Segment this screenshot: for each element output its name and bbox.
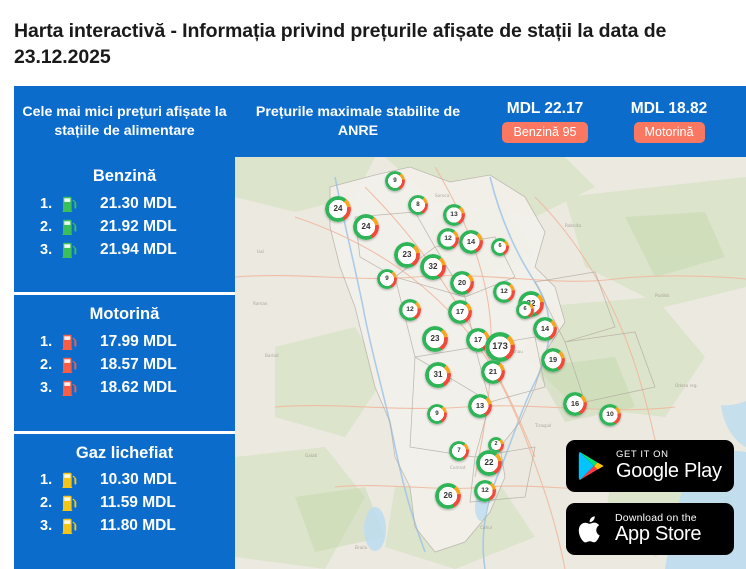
page-title: Harta interactivă - Informația privind p… bbox=[14, 18, 730, 70]
marker-count-label: 6 bbox=[523, 307, 526, 313]
price-value: 18.62 MDL bbox=[100, 379, 177, 397]
marker-count-label: 24 bbox=[334, 205, 343, 213]
price-rank-row[interactable]: 3.21.94 MDL bbox=[14, 238, 235, 261]
marker-count-label: 24 bbox=[362, 223, 371, 231]
marker-count-label: 2 bbox=[494, 442, 497, 448]
price-rank-row[interactable]: 1.17.99 MDL bbox=[14, 330, 235, 353]
price-value: 10.30 MDL bbox=[100, 471, 177, 489]
google-play-icon bbox=[578, 451, 605, 481]
app-store-text: Download on the App Store bbox=[615, 512, 701, 546]
marker-count-label: 7 bbox=[457, 448, 460, 454]
apple-logo-icon bbox=[578, 514, 604, 545]
fuel-section-1: Motorină1.17.99 MDL2.18.57 MDL3.18.62 MD… bbox=[14, 295, 235, 433]
marker-count-label: 10 bbox=[606, 412, 614, 419]
map-cluster-marker[interactable]: 6 bbox=[491, 238, 509, 256]
price-rank-row[interactable]: 2.18.57 MDL bbox=[14, 353, 235, 376]
map-cluster-marker[interactable]: 19 bbox=[541, 348, 565, 372]
max-price-gasoline-badge: Benzină 95 bbox=[502, 122, 587, 143]
google-play-badge[interactable]: GET IT ON Google Play bbox=[566, 440, 734, 492]
price-rank-row[interactable]: 1.10.30 MDL bbox=[14, 469, 235, 492]
price-rank-number: 2. bbox=[40, 357, 62, 373]
header-band: Cele mai mici prețuri afișate la stațiil… bbox=[14, 86, 746, 157]
price-rank-number: 2. bbox=[40, 495, 62, 511]
fuel-pump-icon bbox=[62, 242, 84, 258]
marker-count-label: 9 bbox=[435, 411, 438, 417]
svg-text:Braila: Braila bbox=[355, 545, 367, 550]
fuel-pump-icon bbox=[62, 357, 84, 373]
price-value: 17.99 MDL bbox=[100, 333, 177, 351]
map-cluster-marker[interactable]: 12 bbox=[399, 299, 421, 321]
max-price-gasoline-value: MDL 22.17 bbox=[489, 100, 601, 119]
marker-count-label: 8 bbox=[416, 202, 419, 208]
google-play-large-text: Google Play bbox=[616, 461, 722, 483]
cheapest-prices-sidebar: Benzină1.21.30 MDL2.21.92 MDL3.21.94 MDL… bbox=[14, 157, 235, 569]
anre-max-prices-label: Prețurile maximale stabilite de ANRE bbox=[235, 103, 481, 141]
price-rank-number: 3. bbox=[40, 518, 62, 534]
interactive-map[interactable]: Iasi Roman Barlad Soroca Rabnita Chisina… bbox=[235, 157, 746, 569]
fuel-section-2: Gaz lichefiat1.10.30 MDL2.11.59 MDL3.11.… bbox=[14, 434, 235, 569]
map-cluster-marker[interactable]: 9 bbox=[427, 404, 447, 424]
fuel-section-title: Benzină bbox=[14, 167, 235, 186]
map-cluster-marker[interactable]: 14 bbox=[533, 317, 557, 341]
map-cluster-marker[interactable]: 13 bbox=[443, 204, 465, 226]
interactive-fuel-price-map-page: Harta interactivă - Informația privind p… bbox=[0, 0, 746, 569]
map-cluster-marker[interactable]: 23 bbox=[422, 326, 448, 352]
svg-text:Tiraspol: Tiraspol bbox=[534, 423, 551, 428]
price-rank-number: 3. bbox=[40, 242, 62, 258]
marker-count-label: 13 bbox=[476, 402, 484, 409]
map-cluster-marker[interactable]: 10 bbox=[599, 404, 621, 426]
map-cluster-marker[interactable]: 7 bbox=[449, 441, 469, 461]
marker-count-label: 12 bbox=[481, 488, 489, 495]
map-cluster-marker[interactable]: 12 bbox=[493, 281, 515, 303]
price-rank-number: 1. bbox=[40, 196, 62, 212]
map-cluster-marker[interactable]: 14 bbox=[459, 230, 483, 254]
price-value: 21.92 MDL bbox=[100, 218, 177, 236]
price-value: 11.80 MDL bbox=[100, 517, 176, 535]
fuel-pump-icon bbox=[62, 380, 84, 396]
marker-count-label: 14 bbox=[541, 325, 549, 332]
marker-count-label: 22 bbox=[485, 459, 494, 467]
max-price-gasoline: MDL 22.17 Benzină 95 bbox=[481, 100, 609, 144]
svg-text:Barlad: Barlad bbox=[265, 353, 279, 358]
marker-count-label: 6 bbox=[498, 244, 501, 250]
map-cluster-marker[interactable]: 13 bbox=[468, 394, 492, 418]
marker-count-label: 12 bbox=[444, 236, 452, 243]
marker-count-label: 13 bbox=[450, 212, 458, 219]
svg-text:Podilsk: Podilsk bbox=[655, 293, 670, 298]
app-store-badge[interactable]: Download on the App Store bbox=[566, 503, 734, 555]
map-cluster-marker[interactable]: 23 bbox=[394, 242, 420, 268]
marker-count-label: 12 bbox=[500, 289, 508, 296]
price-rank-number: 2. bbox=[40, 219, 62, 235]
map-cluster-marker[interactable]: 24 bbox=[325, 196, 351, 222]
price-rank-row[interactable]: 1.21.30 MDL bbox=[14, 192, 235, 215]
marker-count-label: 9 bbox=[385, 276, 388, 282]
main-body: Benzină1.21.30 MDL2.21.92 MDL3.21.94 MDL… bbox=[14, 157, 746, 569]
map-cluster-marker[interactable]: 26 bbox=[435, 483, 461, 509]
fuel-pump-icon bbox=[62, 518, 84, 534]
marker-count-label: 31 bbox=[434, 371, 443, 379]
map-cluster-marker[interactable]: 6 bbox=[516, 301, 534, 319]
svg-text:Iasi: Iasi bbox=[257, 249, 264, 254]
marker-count-label: 17 bbox=[474, 336, 482, 343]
fuel-section-title: Gaz lichefiat bbox=[14, 444, 235, 463]
price-rank-row[interactable]: 2.21.92 MDL bbox=[14, 215, 235, 238]
max-price-diesel-badge: Motorină bbox=[634, 122, 705, 143]
marker-count-label: 32 bbox=[429, 263, 438, 271]
map-cluster-marker[interactable]: 12 bbox=[437, 228, 459, 250]
svg-text:Cahul: Cahul bbox=[480, 525, 492, 530]
fuel-pump-icon bbox=[62, 472, 84, 488]
google-play-text: GET IT ON Google Play bbox=[616, 450, 722, 483]
map-cluster-marker[interactable]: 9 bbox=[377, 269, 397, 289]
marker-count-label: 20 bbox=[458, 279, 466, 286]
map-cluster-marker[interactable]: 20 bbox=[450, 271, 474, 295]
fuel-section-0: Benzină1.21.30 MDL2.21.92 MDL3.21.94 MDL bbox=[14, 157, 235, 295]
map-cluster-marker[interactable]: 16 bbox=[563, 392, 587, 416]
map-cluster-marker[interactable]: 8 bbox=[408, 195, 428, 215]
price-rank-row[interactable]: 2.11.59 MDL bbox=[14, 492, 235, 515]
map-cluster-marker[interactable]: 21 bbox=[481, 360, 505, 384]
marker-count-label: 23 bbox=[431, 335, 440, 343]
price-value: 18.57 MDL bbox=[100, 356, 177, 374]
price-rank-row[interactable]: 3.11.80 MDL bbox=[14, 515, 235, 538]
map-cluster-marker[interactable]: 32 bbox=[420, 254, 446, 280]
app-store-large-text: App Store bbox=[615, 524, 701, 546]
fuel-pump-icon bbox=[62, 334, 84, 350]
fuel-pump-icon bbox=[62, 196, 84, 212]
cheapest-prices-label: Cele mai mici prețuri afișate la stațiil… bbox=[14, 103, 235, 141]
map-cluster-marker[interactable]: 24 bbox=[353, 214, 379, 240]
svg-text:Rabnita: Rabnita bbox=[565, 223, 582, 228]
price-value: 11.59 MDL bbox=[100, 494, 176, 512]
map-cluster-marker[interactable]: 17 bbox=[448, 300, 472, 324]
map-cluster-marker[interactable]: 22 bbox=[476, 450, 502, 476]
price-value: 21.94 MDL bbox=[100, 241, 177, 259]
map-cluster-marker[interactable]: 12 bbox=[474, 480, 496, 502]
marker-count-label: 26 bbox=[444, 492, 453, 500]
svg-text:Roman: Roman bbox=[253, 301, 268, 306]
marker-count-label: 16 bbox=[571, 400, 579, 407]
map-cluster-marker[interactable]: 31 bbox=[425, 362, 451, 388]
marker-count-label: 23 bbox=[403, 251, 412, 259]
price-rank-row[interactable]: 3.18.62 MDL bbox=[14, 376, 235, 399]
marker-count-label: 17 bbox=[456, 308, 464, 315]
price-rank-number: 3. bbox=[40, 380, 62, 396]
fuel-pump-icon bbox=[62, 219, 84, 235]
fuel-section-title: Motorină bbox=[14, 305, 235, 324]
app-store-badges: GET IT ON Google Play Download on the Ap… bbox=[566, 440, 734, 555]
map-cluster-marker[interactable]: 173 bbox=[485, 332, 515, 362]
map-cluster-marker[interactable]: 9 bbox=[385, 171, 405, 191]
svg-text:Comrat: Comrat bbox=[450, 465, 466, 470]
svg-text:Odesa reg.: Odesa reg. bbox=[675, 383, 698, 388]
price-rank-number: 1. bbox=[40, 472, 62, 488]
fuel-pump-icon bbox=[62, 495, 84, 511]
max-price-diesel: MDL 18.82 Motorină bbox=[609, 100, 729, 144]
svg-text:Galati: Galati bbox=[305, 453, 317, 458]
marker-count-label: 21 bbox=[489, 368, 497, 375]
max-price-diesel-value: MDL 18.82 bbox=[617, 100, 721, 119]
marker-count-label: 12 bbox=[406, 307, 414, 314]
price-value: 21.30 MDL bbox=[100, 195, 177, 213]
price-rank-number: 1. bbox=[40, 334, 62, 350]
marker-count-label: 173 bbox=[492, 342, 508, 351]
marker-count-label: 9 bbox=[393, 178, 396, 184]
svg-text:Soroca: Soroca bbox=[435, 193, 450, 198]
marker-count-label: 19 bbox=[549, 356, 557, 363]
marker-count-label: 14 bbox=[467, 238, 475, 245]
